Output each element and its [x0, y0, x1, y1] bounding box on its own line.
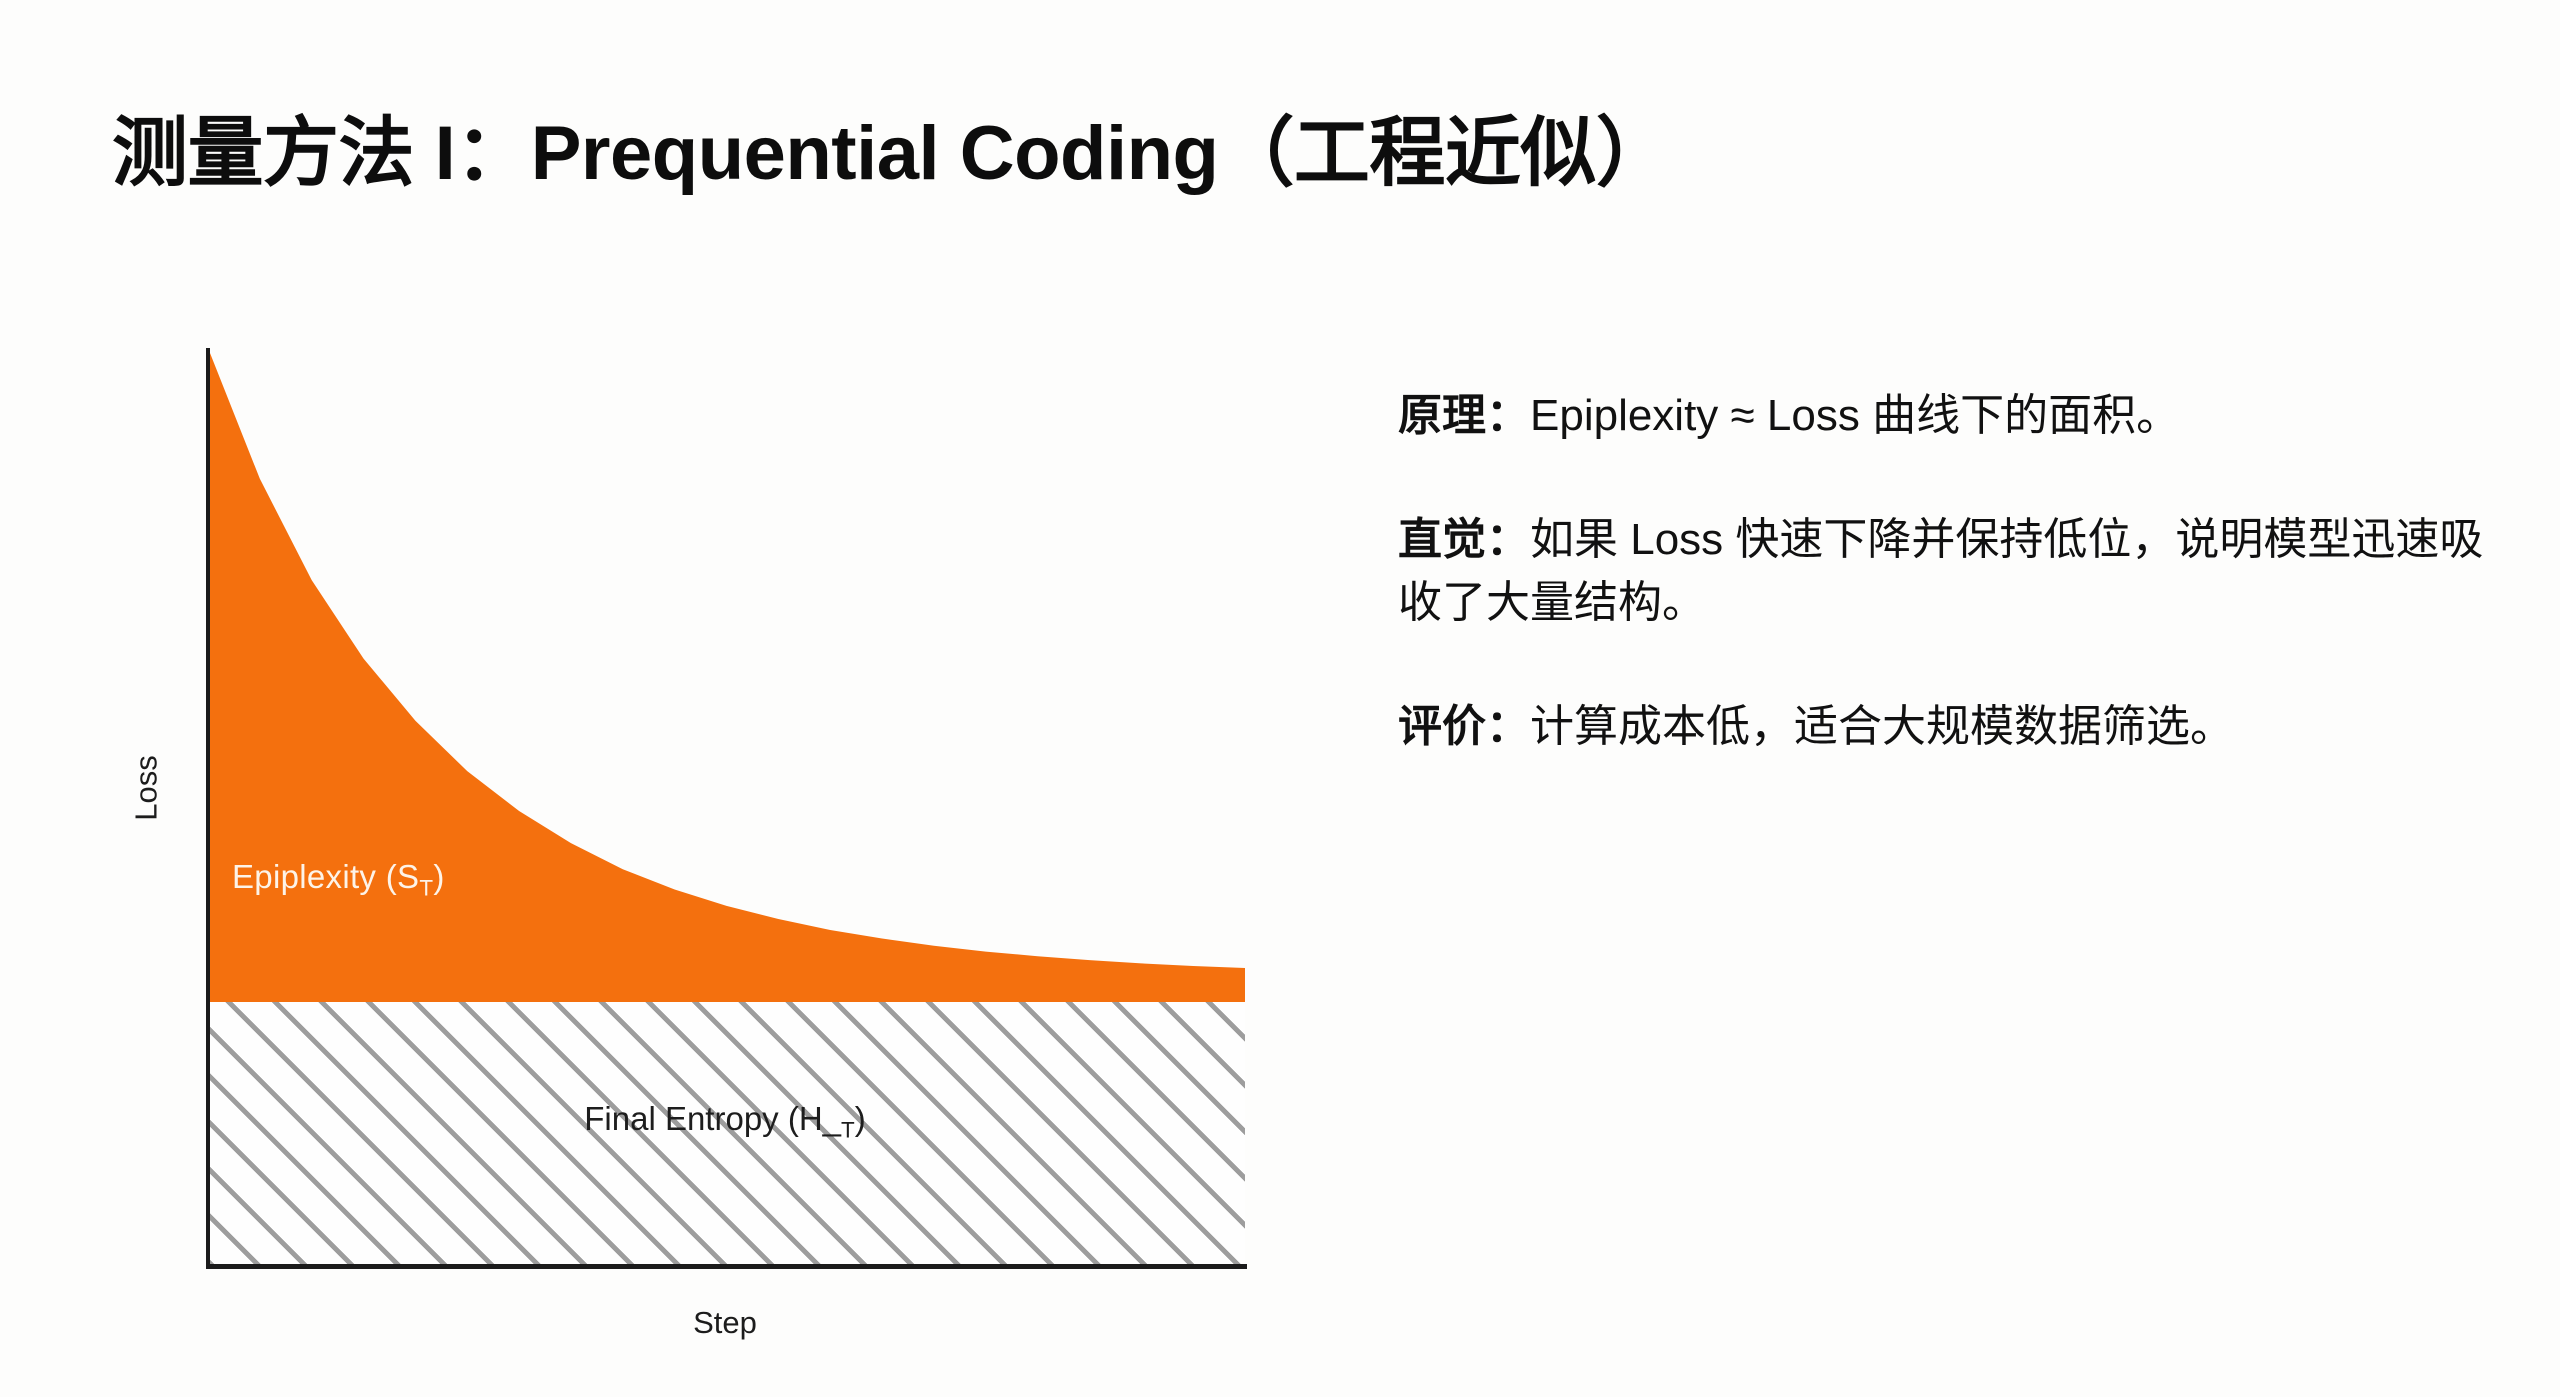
note-principle: 原理：Epiplexity ≈ Loss 曲线下的面积。	[1398, 385, 2488, 447]
note-principle-text: Epiplexity ≈ Loss 曲线下的面积。	[1530, 391, 2180, 440]
x-axis-title: Step	[150, 1305, 1300, 1341]
note-assessment-text: 计算成本低，适合大规模数据筛选。	[1530, 702, 2234, 751]
final-entropy-annotation-subscript: T	[841, 1118, 855, 1143]
epiplexity-area	[208, 348, 1245, 1002]
note-intuition-key: 直觉：	[1398, 515, 1530, 564]
epiplexity-area-path	[208, 348, 1245, 1002]
y-axis-title: Loss	[129, 755, 165, 820]
epiplexity-annotation-subscript: T	[419, 876, 433, 901]
epiplexity-annotation-suffix: )	[433, 858, 444, 895]
epiplexity-annotation: Epiplexity (ST)	[232, 858, 445, 902]
final-entropy-annotation-suffix: )	[855, 1100, 866, 1137]
final-entropy-annotation-prefix: Final Entropy (H_	[584, 1100, 841, 1137]
page-title: 测量方法 I：Prequential Coding（工程近似）	[112, 112, 1671, 196]
final-entropy-annotation: Final Entropy (H_T)	[150, 1100, 1300, 1144]
x-axis-line	[206, 1264, 1247, 1269]
notes-panel: 原理：Epiplexity ≈ Loss 曲线下的面积。 直觉：如果 Loss …	[1398, 385, 2488, 759]
epiplexity-annotation-prefix: Epiplexity (S	[232, 858, 419, 895]
note-principle-key: 原理：	[1398, 391, 1530, 440]
note-intuition: 直觉：如果 Loss 快速下降并保持低位，说明模型迅速吸收了大量结构。	[1398, 509, 2488, 634]
note-assessment-key: 评价：	[1398, 702, 1530, 751]
note-intuition-text: 如果 Loss 快速下降并保持低位，说明模型迅速吸收了大量结构。	[1398, 515, 2483, 626]
note-assessment: 评价：计算成本低，适合大规模数据筛选。	[1398, 696, 2488, 758]
loss-curve-chart: Epiplexity (ST) Final Entropy (H_T) Loss…	[150, 330, 1330, 1340]
